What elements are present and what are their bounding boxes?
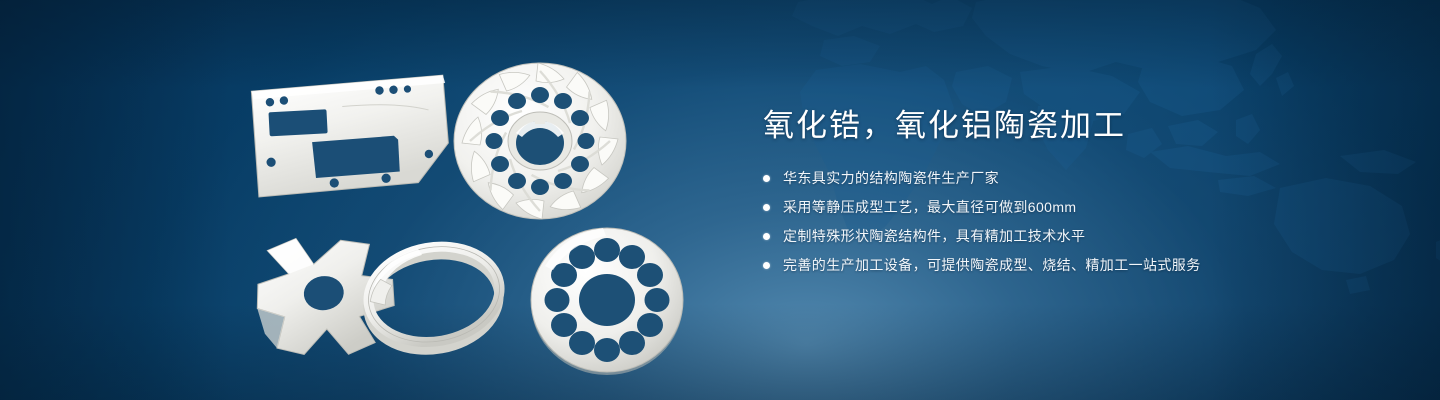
promo-banner: 氧化锆，氧化铝陶瓷加工 华东具实力的结构陶瓷件生产厂家 采用等静压成型工艺，最大…	[0, 0, 1440, 400]
list-item-label: 定制特殊形状陶瓷结构件，具有精加工技术水平	[783, 228, 1085, 244]
list-item-label: 华东具实力的结构陶瓷件生产厂家	[783, 170, 999, 186]
page-title: 氧化锆，氧化铝陶瓷加工	[763, 104, 1403, 148]
list-item: 完善的生产加工设备，可提供陶瓷成型、烧结、精加工一站式服务	[763, 256, 1403, 275]
feature-list: 华东具实力的结构陶瓷件生产厂家 采用等静压成型工艺，最大直径可做到600mm 定…	[763, 169, 1403, 275]
list-item-label: 完善的生产加工设备，可提供陶瓷成型、烧结、精加工一站式服务	[783, 257, 1201, 273]
list-item: 采用等静压成型工艺，最大直径可做到600mm	[763, 198, 1403, 217]
bullet-dot-icon	[763, 175, 770, 182]
list-item: 定制特殊形状陶瓷结构件，具有精加工技术水平	[763, 227, 1403, 246]
bullet-dot-icon	[763, 233, 770, 240]
banner-copy: 氧化锆，氧化铝陶瓷加工 华东具实力的结构陶瓷件生产厂家 采用等静压成型工艺，最大…	[763, 104, 1403, 275]
bullet-dot-icon	[763, 204, 770, 211]
list-item-label: 采用等静压成型工艺，最大直径可做到600mm	[783, 199, 1076, 215]
list-item: 华东具实力的结构陶瓷件生产厂家	[763, 169, 1403, 188]
bullet-dot-icon	[763, 262, 770, 269]
